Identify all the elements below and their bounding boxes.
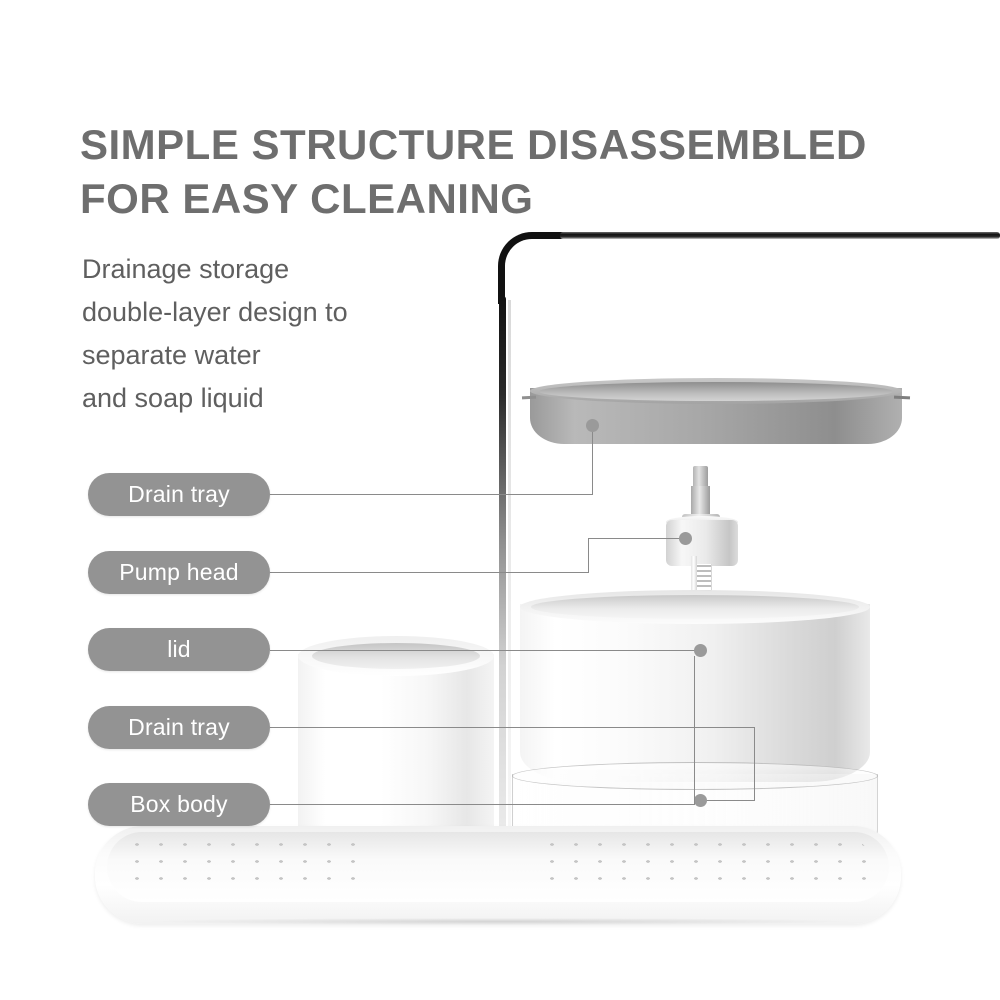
upper-gray-drain-tray	[530, 378, 902, 444]
box-body-opening	[531, 595, 859, 619]
base-tray-perforations-left	[125, 836, 375, 894]
frame-bar-highlight	[508, 300, 511, 835]
gray-tray-inner-basin	[539, 382, 893, 401]
pump-cap	[666, 520, 738, 566]
frame-bar-horizontal	[560, 232, 1000, 239]
leader-line-drain-tray-lower-vertical	[754, 727, 755, 801]
leader-line-pump-head-vertical	[588, 538, 589, 573]
callout-label: Drain tray	[128, 481, 230, 508]
leader-line-drain-tray-top-vertical	[592, 424, 593, 495]
description-paragraph: Drainage storage double-layer design to …	[82, 248, 482, 420]
leader-line-drain-tray-lower-horizontal	[270, 727, 755, 728]
leader-dot-drain-tray-lower	[694, 794, 707, 807]
callout-label: Drain tray	[128, 714, 230, 741]
callout-pill-drain-tray-lower[interactable]: Drain tray	[88, 706, 270, 749]
callout-pill-drain-tray-top[interactable]: Drain tray	[88, 473, 270, 516]
leader-line-drain-tray-top-horizontal	[270, 494, 593, 495]
leader-line-drain-tray-lower-horizontal-2	[700, 800, 755, 801]
base-tray-shadow	[150, 918, 850, 925]
leader-line-pump-head-horizontal	[270, 572, 589, 573]
callout-label: Pump head	[119, 559, 238, 586]
leader-line-box-body-vertical	[694, 656, 695, 805]
leader-dot-pump-head	[679, 532, 692, 545]
callout-label: Box body	[130, 791, 228, 818]
pump-nozzle	[693, 466, 708, 488]
leader-line-box-body-horizontal	[270, 804, 694, 805]
leader-line-pump-head-horizontal-2	[588, 538, 684, 539]
page-title: SIMPLE STRUCTURE DISASSEMBLED FOR EASY C…	[80, 118, 960, 226]
callout-pill-box-body[interactable]: Box body	[88, 783, 270, 826]
leader-dot-lid	[694, 644, 707, 657]
frame-bar-vertical	[499, 296, 506, 841]
callout-pill-pump-head[interactable]: Pump head	[88, 551, 270, 594]
callout-pill-lid[interactable]: lid	[88, 628, 270, 671]
callout-label: lid	[167, 636, 191, 663]
frame-bar-corner-icon	[498, 232, 568, 304]
infographic-canvas: SIMPLE STRUCTURE DISASSEMBLED FOR EASY C…	[0, 0, 1000, 1000]
leader-dot-drain-tray-top	[586, 419, 599, 432]
leader-line-lid-horizontal	[270, 650, 700, 651]
pump-head-assembly	[660, 466, 756, 596]
cup-opening	[312, 643, 480, 669]
base-tray-perforations-right	[540, 836, 870, 894]
